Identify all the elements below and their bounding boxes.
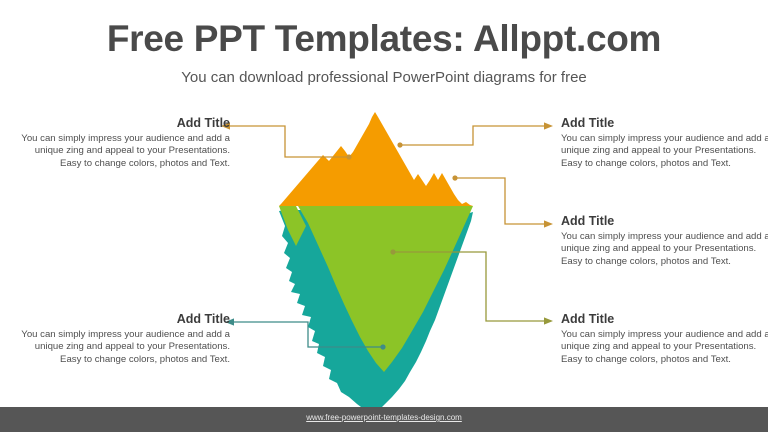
callout-body: You can simply impress your audience and… <box>18 133 230 170</box>
slide-canvas: Free PPT Templates: Allppt.com You can d… <box>0 0 768 432</box>
callout-body: You can simply impress your audience and… <box>561 133 768 170</box>
callout-title: Add Title <box>18 312 230 327</box>
callout-bottom-right[interactable]: Add Title You can simply impress your au… <box>561 312 768 366</box>
callout-title: Add Title <box>561 116 768 131</box>
footer-link[interactable]: www.free-powerpoint-templates-design.com <box>0 413 768 422</box>
connector-top-left <box>221 122 352 159</box>
connector-top-right <box>397 122 553 147</box>
callout-title: Add Title <box>561 214 768 229</box>
callout-bottom-left[interactable]: Add Title You can simply impress your au… <box>18 312 230 366</box>
footer-bar: www.free-powerpoint-templates-design.com <box>0 407 768 432</box>
callout-body: You can simply impress your audience and… <box>561 231 768 268</box>
callout-top-left[interactable]: Add Title You can simply impress your au… <box>18 116 230 170</box>
callout-title: Add Title <box>561 312 768 327</box>
callout-top-right[interactable]: Add Title You can simply impress your au… <box>561 116 768 170</box>
callout-body: You can simply impress your audience and… <box>561 329 768 366</box>
callout-title: Add Title <box>18 116 230 131</box>
callout-body: You can simply impress your audience and… <box>18 329 230 366</box>
callout-mid-right[interactable]: Add Title You can simply impress your au… <box>561 214 768 268</box>
above-water-peaks <box>279 112 473 206</box>
